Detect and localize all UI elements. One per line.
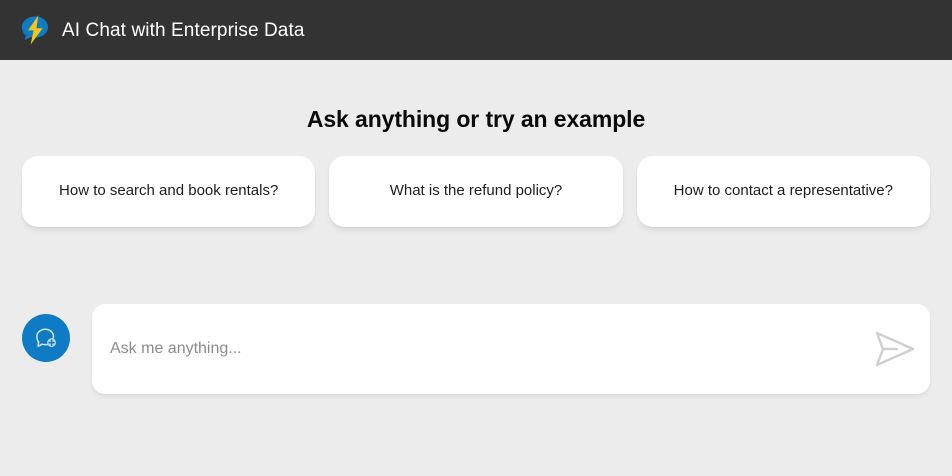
new-chat-bubble-plus-icon	[33, 325, 59, 351]
lightning-chat-bubble-icon	[16, 11, 54, 49]
chat-input[interactable]	[110, 334, 866, 364]
example-prompt-label: How to search and book rentals?	[59, 182, 278, 201]
app-title: AI Chat with Enterprise Data	[62, 21, 305, 40]
example-prompt-card-1[interactable]: How to search and book rentals?	[22, 156, 315, 227]
app-header: AI Chat with Enterprise Data	[0, 0, 952, 60]
chat-input-container[interactable]	[92, 304, 930, 394]
send-paper-plane-icon	[869, 327, 919, 371]
example-prompt-label: What is the refund policy?	[390, 182, 563, 201]
send-button[interactable]	[866, 321, 922, 377]
example-prompt-card-2[interactable]: What is the refund policy?	[329, 156, 622, 227]
example-prompts-row: How to search and book rentals? What is …	[0, 156, 952, 227]
main-content: Ask anything or try an example How to se…	[0, 60, 952, 476]
example-prompt-card-3[interactable]: How to contact a representative?	[637, 156, 930, 227]
composer	[0, 304, 952, 394]
new-chat-button[interactable]	[22, 314, 70, 362]
page-title: Ask anything or try an example	[0, 60, 952, 133]
example-prompt-label: How to contact a representative?	[674, 182, 893, 201]
